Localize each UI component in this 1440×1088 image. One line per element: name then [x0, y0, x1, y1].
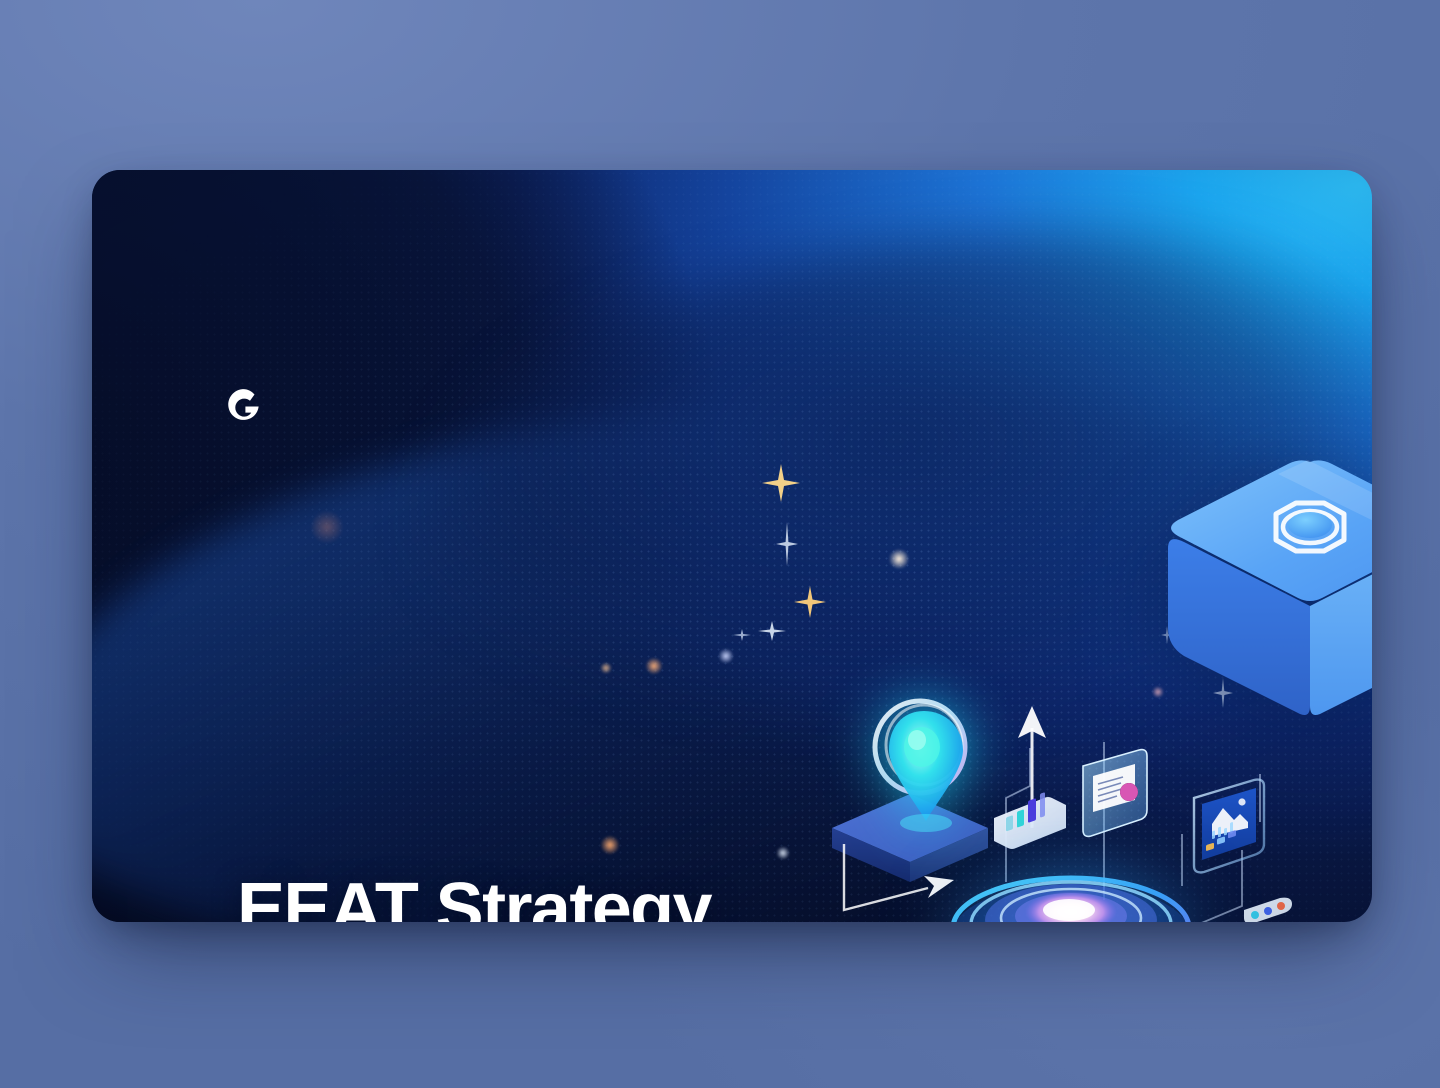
hero-card: EEAT Strategy Content Guide GitNexa [92, 170, 1372, 922]
card-vignette [92, 170, 1372, 922]
brand-logo-g-icon [220, 384, 266, 430]
page-title: EEAT Strategy [237, 873, 711, 922]
poster-page: EEAT Strategy Content Guide GitNexa [0, 0, 1440, 1088]
